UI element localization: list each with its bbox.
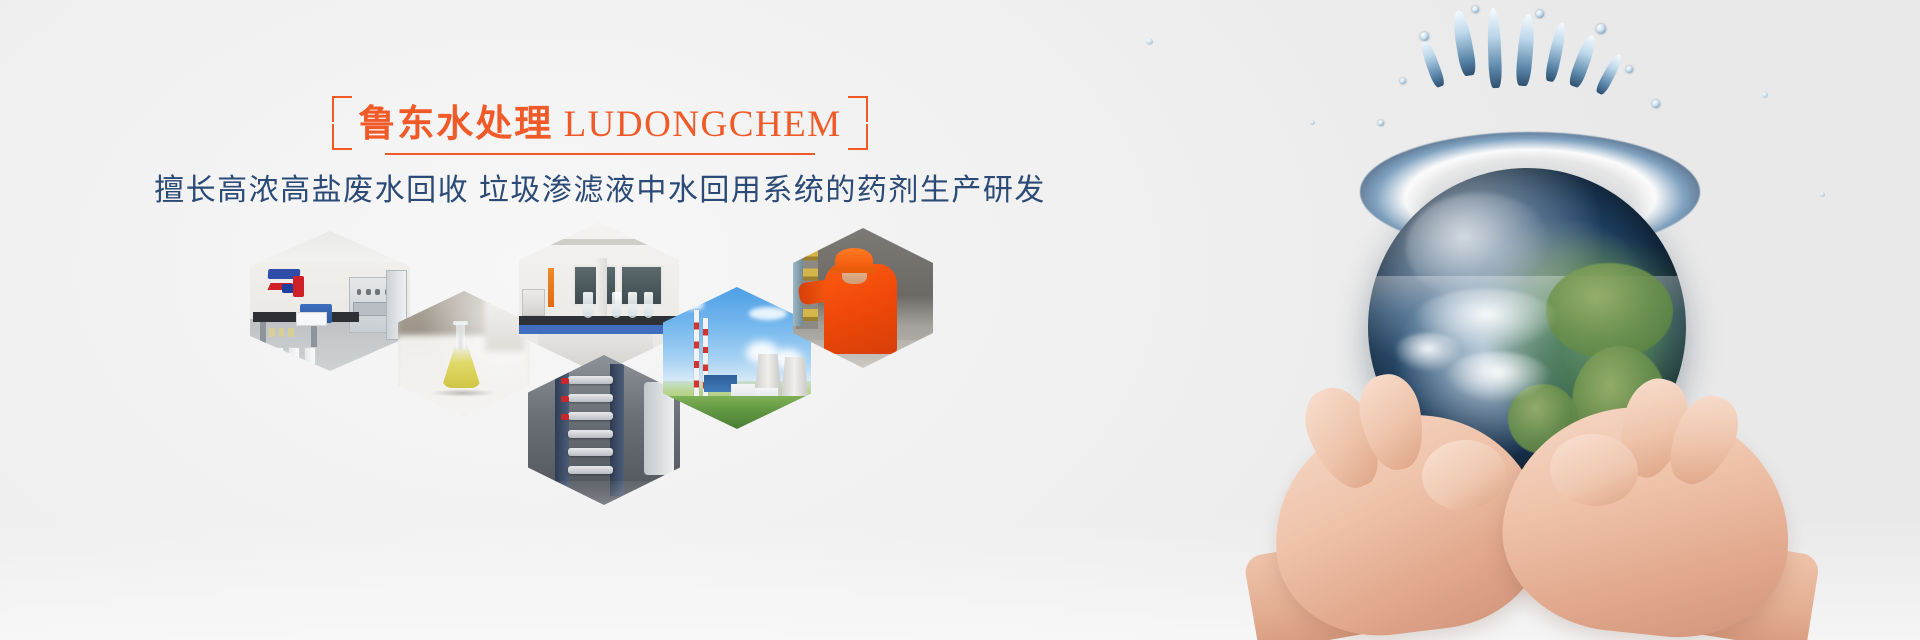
ambient-droplet — [1146, 38, 1153, 45]
ambient-droplet — [1820, 192, 1825, 197]
conical-flask-photo — [398, 291, 530, 417]
banner-subtitle: 擅长高浓高盐废水回收 垃圾渗滤液中水回用系统的药剂生产研发 — [0, 172, 1200, 210]
ambient-droplet — [1762, 92, 1768, 98]
gallery-tile-flask[interactable] — [398, 291, 530, 417]
bracket-bottom-left-icon — [332, 124, 352, 150]
ambient-droplet — [1310, 120, 1315, 125]
industrial-pipework-photo — [528, 355, 680, 505]
field-engineer-photo — [793, 228, 933, 368]
hero-banner: 鲁东水处理 LUDONGCHEM 擅长高浓高盐废水回收 垃圾渗滤液中水回用系统的… — [0, 0, 1920, 640]
page-title: 鲁东水处理 LUDONGCHEM — [358, 102, 841, 148]
brand-title-wrap: 鲁东水处理 LUDONGCHEM — [332, 96, 867, 150]
gallery-tile-worker[interactable] — [793, 228, 933, 368]
cupped-hands — [1250, 368, 1810, 640]
gallery-tile-lab-room[interactable] — [250, 231, 410, 371]
laboratory-glassware-photo — [519, 222, 679, 374]
brand-title-en: LUDONGCHEM — [564, 104, 842, 145]
gallery-tile-power-plant[interactable] — [663, 287, 811, 429]
brand-title-cn: 鲁东水处理 — [358, 104, 553, 145]
power-plant-photo — [663, 287, 811, 429]
bracket-top-right-icon — [848, 96, 868, 122]
title-underline — [385, 153, 815, 155]
banner-text-block: 鲁东水处理 LUDONGCHEM 擅长高浓高盐废水回收 垃圾渗滤液中水回用系统的… — [0, 96, 1200, 210]
gallery-tile-lab-glassware[interactable] — [519, 222, 679, 374]
bracket-bottom-right-icon — [848, 124, 868, 150]
bracket-top-left-icon — [332, 96, 352, 122]
gallery-tile-pipes[interactable] — [528, 355, 680, 505]
laboratory-room-photo — [250, 231, 410, 371]
